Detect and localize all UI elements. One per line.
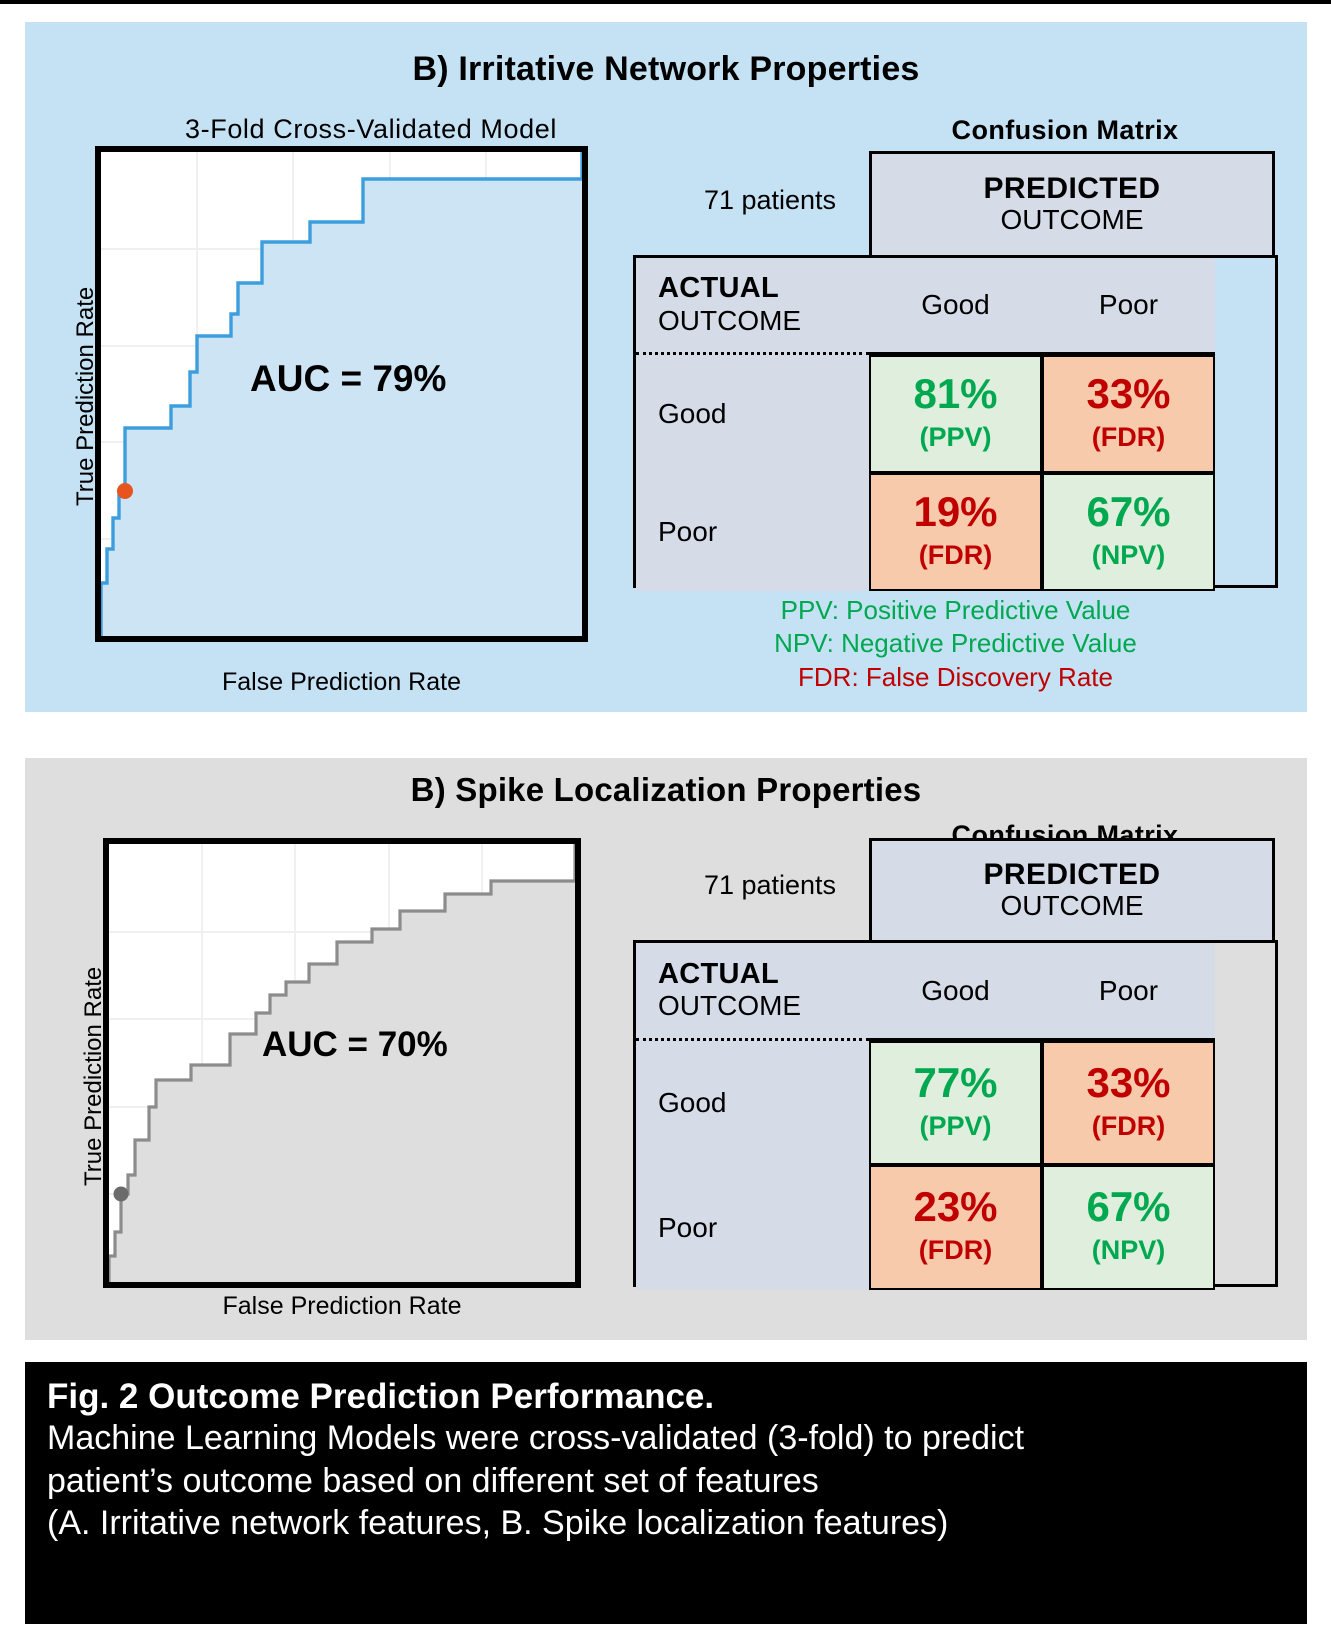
col-header-good-a: Good [869,258,1042,355]
cell-b-good-good: 77% (PPV) [869,1041,1042,1165]
cell-b-poor-good-metric: (FDR) [919,1232,992,1268]
col-header-poor-a: Poor [1042,258,1215,355]
cell-a-good-poor: 33% (FDR) [1042,355,1215,473]
cell-a-poor-poor-metric: (NPV) [1092,537,1166,573]
predicted-outcome-sublabel-b: OUTCOME [1000,890,1143,922]
auc-a-annotation: AUC = 79% [250,358,446,400]
top-rule [0,0,1331,4]
cell-a-poor-good: 19% (FDR) [869,473,1042,591]
cell-b-poor-poor-metric: (NPV) [1092,1232,1166,1268]
roc-b-y-axis-label: True Prediction Rate [80,967,108,1186]
cell-a-good-poor-value: 33% [1086,373,1170,415]
actual-label-a: ACTUAL [658,273,779,304]
cell-a-good-poor-metric: (FDR) [1092,419,1165,455]
cell-b-good-good-value: 77% [913,1062,997,1104]
cell-b-good-poor-metric: (FDR) [1092,1108,1165,1144]
roc-a-y-axis-label: True Prediction Rate [72,287,100,506]
cell-a-good-good-value: 81% [913,373,997,415]
confusion-matrix-b: ACTUAL OUTCOME Good Poor Good 77% (PPV) … [633,940,1278,1287]
cell-b-poor-good: 23% (FDR) [869,1165,1042,1290]
actual-outcome-sublabel-a: OUTCOME [658,305,801,337]
confusion-matrix-legend-a: PPV: Positive Predictive Value NPV: Nega… [633,594,1278,694]
caption-line-1: Machine Learning Models were cross-valid… [47,1417,1287,1460]
actual-outcome-header-b: ACTUAL OUTCOME [636,943,869,1041]
roc-a-operating-point [117,483,133,499]
predicted-outcome-header-b: PREDICTED OUTCOME [869,838,1275,940]
figure-caption: Fig. 2 Outcome Prediction Performance. M… [25,1362,1307,1624]
predicted-outcome-header-a: PREDICTED OUTCOME [869,151,1275,255]
cell-b-poor-good-value: 23% [913,1186,997,1228]
cell-a-poor-poor: 67% (NPV) [1042,473,1215,591]
confusion-matrix-a: ACTUAL OUTCOME Good Poor Good 81% (PPV) … [633,255,1278,588]
cell-a-good-good: 81% (PPV) [869,355,1042,473]
col-header-poor-b: Poor [1042,943,1215,1041]
actual-outcome-sublabel-b: OUTCOME [658,990,801,1022]
cell-a-poor-poor-value: 67% [1086,491,1170,533]
cell-a-good-good-metric: (PPV) [919,419,991,455]
cell-a-poor-good-metric: (FDR) [919,537,992,573]
confusion-matrix-a-title: Confusion Matrix [855,115,1275,146]
row-header-poor-b: Poor [636,1165,869,1290]
caption-line-3: (A. Irritative network features, B. Spik… [47,1502,1287,1545]
roc-b-x-axis-label: False Prediction Rate [103,1292,581,1321]
col-header-good-b: Good [869,943,1042,1041]
panel-a-title: B) Irritative Network Properties [25,50,1307,89]
roc-b-operating-point [114,1187,129,1202]
row-header-good-b: Good [636,1041,869,1165]
legend-ppv: PPV: Positive Predictive Value [633,594,1278,627]
legend-npv: NPV: Negative Predictive Value [633,627,1278,660]
row-header-good-a: Good [636,355,869,473]
cell-b-good-good-metric: (PPV) [919,1108,991,1144]
cell-b-poor-poor: 67% (NPV) [1042,1165,1215,1290]
row-header-poor-a: Poor [636,473,869,591]
roc-a-title: 3-Fold Cross-Validated Model [121,114,621,145]
cell-b-poor-poor-value: 67% [1086,1186,1170,1228]
patients-count-a: 71 patients [655,185,885,216]
patients-count-b: 71 patients [655,870,885,901]
cell-b-good-poor-value: 33% [1086,1062,1170,1104]
actual-outcome-header-a: ACTUAL OUTCOME [636,258,869,355]
actual-label-b: ACTUAL [658,959,779,990]
caption-line-2: patient’s outcome based on different set… [47,1460,1287,1503]
caption-title: Fig. 2 Outcome Prediction Performance. [47,1376,1287,1417]
predicted-label-b: PREDICTED [984,859,1161,891]
panel-b-title: B) Spike Localization Properties [25,771,1307,809]
legend-fdr: FDR: False Discovery Rate [633,661,1278,694]
cell-b-good-poor: 33% (FDR) [1042,1041,1215,1165]
auc-b-annotation: AUC = 70% [262,1025,448,1065]
roc-a-x-axis-label: False Prediction Rate [95,668,588,697]
predicted-outcome-sublabel-a: OUTCOME [1000,204,1143,236]
cell-a-poor-good-value: 19% [913,491,997,533]
predicted-label-a: PREDICTED [984,173,1161,205]
